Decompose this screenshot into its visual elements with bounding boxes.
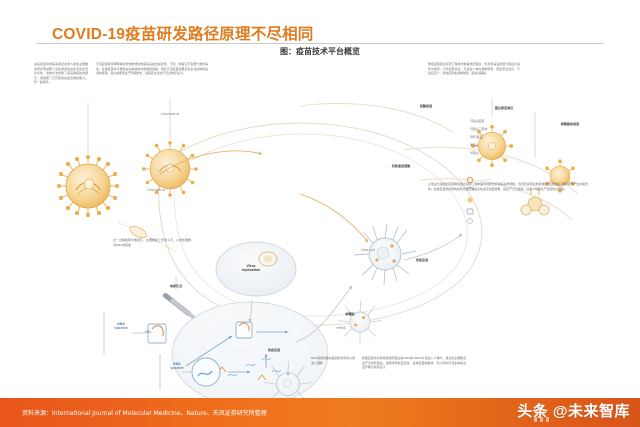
legend-item-4: M蛋白: [470, 151, 514, 155]
immune-response-label-2: 免疫应答: [400, 258, 444, 262]
electroporation-note: 这一过程被称为电穿孔，在细胞膜上形成小孔，以增加细胞对DNA的吸收: [113, 238, 191, 247]
antigen-presenting-cell: [172, 302, 328, 400]
mrna-label: mRNA: [326, 326, 356, 330]
host-cell-label: Host cell: [344, 248, 392, 252]
electroporation-electrode: [162, 276, 196, 320]
virus-particle-left: [57, 155, 119, 217]
dendritic-cell-right: [354, 224, 416, 285]
antigen-peptide-label: 病毒肽: [330, 312, 370, 316]
electroporation-label: 电穿孔法: [156, 284, 196, 288]
source-citation: 资料来源：International Journal of Molecular …: [22, 408, 267, 417]
legend-left-label: 核酸疫苗: [404, 104, 448, 108]
apc-label: 抗原递呈细胞: [378, 164, 424, 168]
intro-block-subunit: 灭活疫苗使用甲醛等化学物质或加热使病毒失去感染性、灭活，制造它们需要大量的病毒，…: [96, 62, 208, 76]
dendritic-cell-peptide: [338, 301, 381, 343]
legend-title: 蛋白质亚单位: [468, 106, 540, 110]
intro-block-inactivated: 减毒疫苗中的病毒通过在非人类宿主细胞中培养而减弱了毒性或者连续多次改变培养条件，…: [34, 62, 88, 85]
vaccine-platform-diagram: [0, 54, 640, 400]
virus-left-label: Coronavirus: [128, 188, 184, 192]
host-cell-outline: [159, 123, 482, 325]
immune-response-label-1: 免疫应答: [252, 348, 296, 352]
virus-top-label: Coronavirus: [142, 112, 198, 116]
right-block-protein-subunit: 重组疫苗通过基因工程技术制备抗原蛋白，仅含有病毒的部分蛋白片段作为抗原，不含完整…: [428, 62, 520, 76]
nucleus-label: Virus replication: [222, 264, 280, 273]
legend-right-label: 病毒载体疫苗: [540, 122, 600, 126]
slide-root: COVID-19疫苗研发路径原理不尽相同 图：疫苗技术平台概览: [0, 0, 640, 427]
dna-plasmid-label: DNA: [136, 330, 160, 334]
page-title: COVID-19疫苗研发路径原理不尽相同: [52, 22, 314, 44]
dna-vaccine-label: DNA vaccine: [104, 322, 138, 331]
diagram-svg: [0, 54, 640, 400]
rna-note: RNA通常包被在脂质纳米壳中以便进入细胞: [311, 356, 355, 365]
legend-item-2: RBD疫苗: [470, 135, 514, 139]
flow-arrows-orange: [160, 151, 368, 242]
rna-vaccine-label: RNA vaccine: [160, 362, 194, 371]
legend-item-3: N蛋白: [470, 143, 514, 147]
legend-item-0: S蛋白疫苗: [470, 119, 514, 123]
watermark-logo: 头条 @未来智库: [517, 400, 630, 421]
mrna-note: 核酸疫苗将含有编码抗原蛋白的DNA或mRNA片段注入人体内，通过宿主细胞表达产生…: [362, 356, 466, 370]
legend-item-1: S蛋白三聚体: [470, 127, 514, 131]
title-divider: [36, 43, 604, 44]
right-block-vlp-note: 以蛋白为基础的疫苗制备通过基因工程制备的纯化抗原或病毒样颗粒，包含刺突蛋白或受体…: [428, 182, 588, 191]
